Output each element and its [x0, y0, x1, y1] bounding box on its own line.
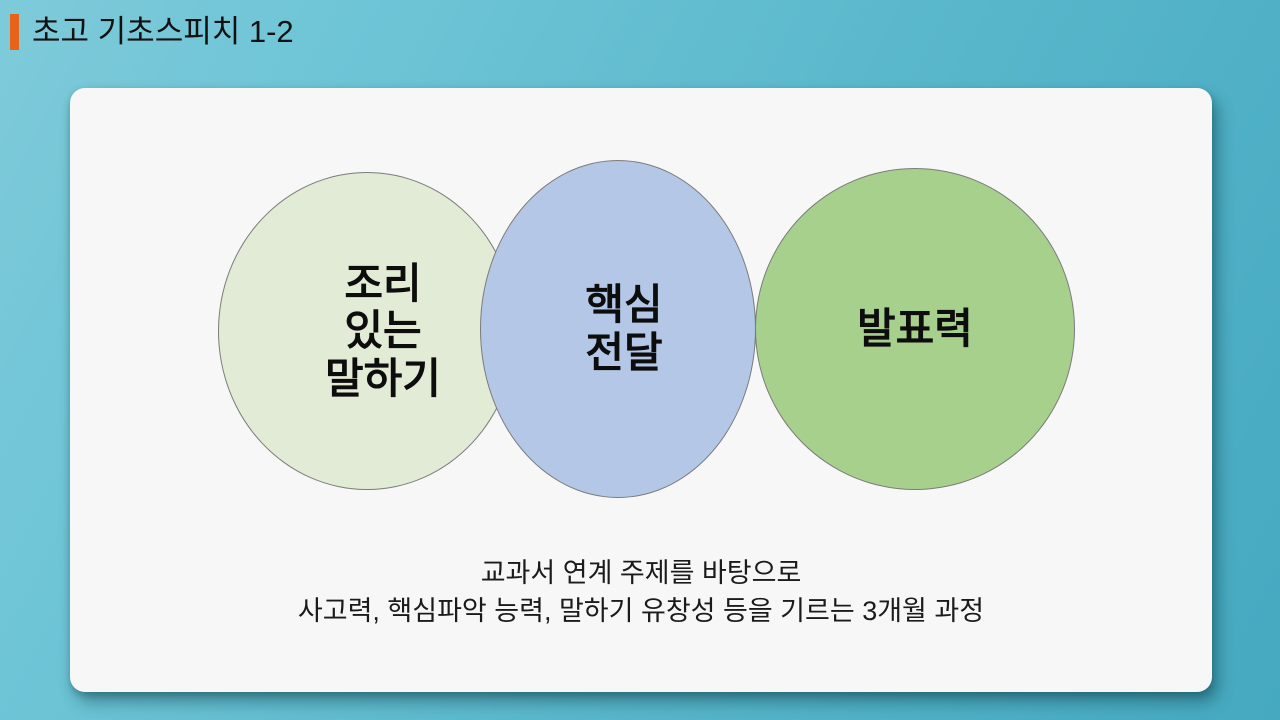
venn-circle-organized-speaking: 조리 있는 말하기 [218, 172, 516, 490]
venn-circle-label: 조리 있는 말하기 [325, 260, 441, 402]
venn-diagram: 조리 있는 말하기 핵심 전달 발표력 [70, 88, 1212, 518]
caption-line-2: 사고력, 핵심파악 능력, 말하기 유창성 등을 기르는 3개월 과정 [70, 592, 1212, 630]
caption-line-1: 교과서 연계 주제를 바탕으로 [70, 554, 1212, 592]
venn-circle-label: 핵심 전달 [585, 281, 662, 378]
venn-circle-label: 발표력 [857, 305, 973, 353]
slide-title-bar: 초고 기초스피치 1-2 [0, 0, 294, 62]
caption-block: 교과서 연계 주제를 바탕으로 사고력, 핵심파악 능력, 말하기 유창성 등을… [70, 554, 1212, 631]
venn-circle-core-delivery: 핵심 전달 [480, 160, 756, 498]
content-card: 조리 있는 말하기 핵심 전달 발표력 교과서 연계 주제를 바탕으로 사고력,… [70, 88, 1212, 692]
title-accent-bar-icon [10, 14, 19, 50]
page-title: 초고 기초스피치 1-2 [32, 16, 294, 47]
slide-canvas: 초고 기초스피치 1-2 조리 있는 말하기 핵심 전달 발표력 교과서 연계 … [0, 0, 1280, 720]
venn-circle-presentation-skill: 발표력 [755, 168, 1075, 490]
